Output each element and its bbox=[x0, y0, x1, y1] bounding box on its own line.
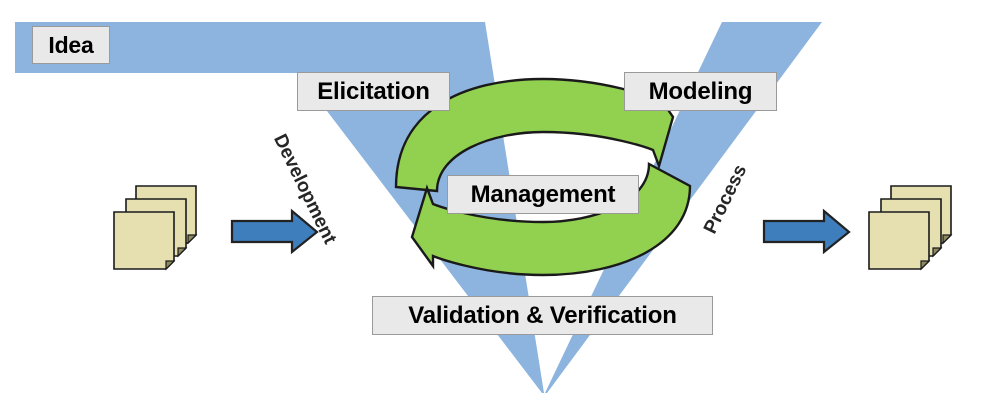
document-fold-front bbox=[166, 261, 174, 269]
validation-verification-label: Validation & Verification bbox=[408, 302, 676, 330]
document-sheet-front bbox=[114, 212, 174, 269]
label-box-validation-verification[interactable]: Validation & Verification bbox=[372, 296, 713, 335]
document-fold-middle bbox=[933, 248, 941, 256]
document-fold-middle bbox=[178, 248, 186, 256]
document-stack-icon-output bbox=[869, 186, 951, 269]
arrow-right-icon-input bbox=[232, 211, 317, 252]
diagram-canvas: Idea Elicitation Modeling Management Val… bbox=[0, 0, 982, 416]
label-box-elicitation[interactable]: Elicitation bbox=[297, 72, 450, 111]
label-box-idea[interactable]: Idea bbox=[32, 26, 110, 64]
elicitation-label: Elicitation bbox=[317, 78, 429, 106]
label-box-management[interactable]: Management bbox=[447, 175, 639, 214]
modeling-label: Modeling bbox=[649, 78, 753, 106]
label-box-modeling[interactable]: Modeling bbox=[624, 72, 777, 111]
document-fold-back bbox=[188, 235, 196, 243]
document-fold-back bbox=[943, 235, 951, 243]
arrow-right-icon-output bbox=[764, 211, 849, 252]
idea-label: Idea bbox=[48, 32, 93, 59]
document-sheet-front bbox=[869, 212, 929, 269]
document-stack-icon-input bbox=[114, 186, 196, 269]
management-label: Management bbox=[471, 181, 616, 209]
document-fold-front bbox=[921, 261, 929, 269]
